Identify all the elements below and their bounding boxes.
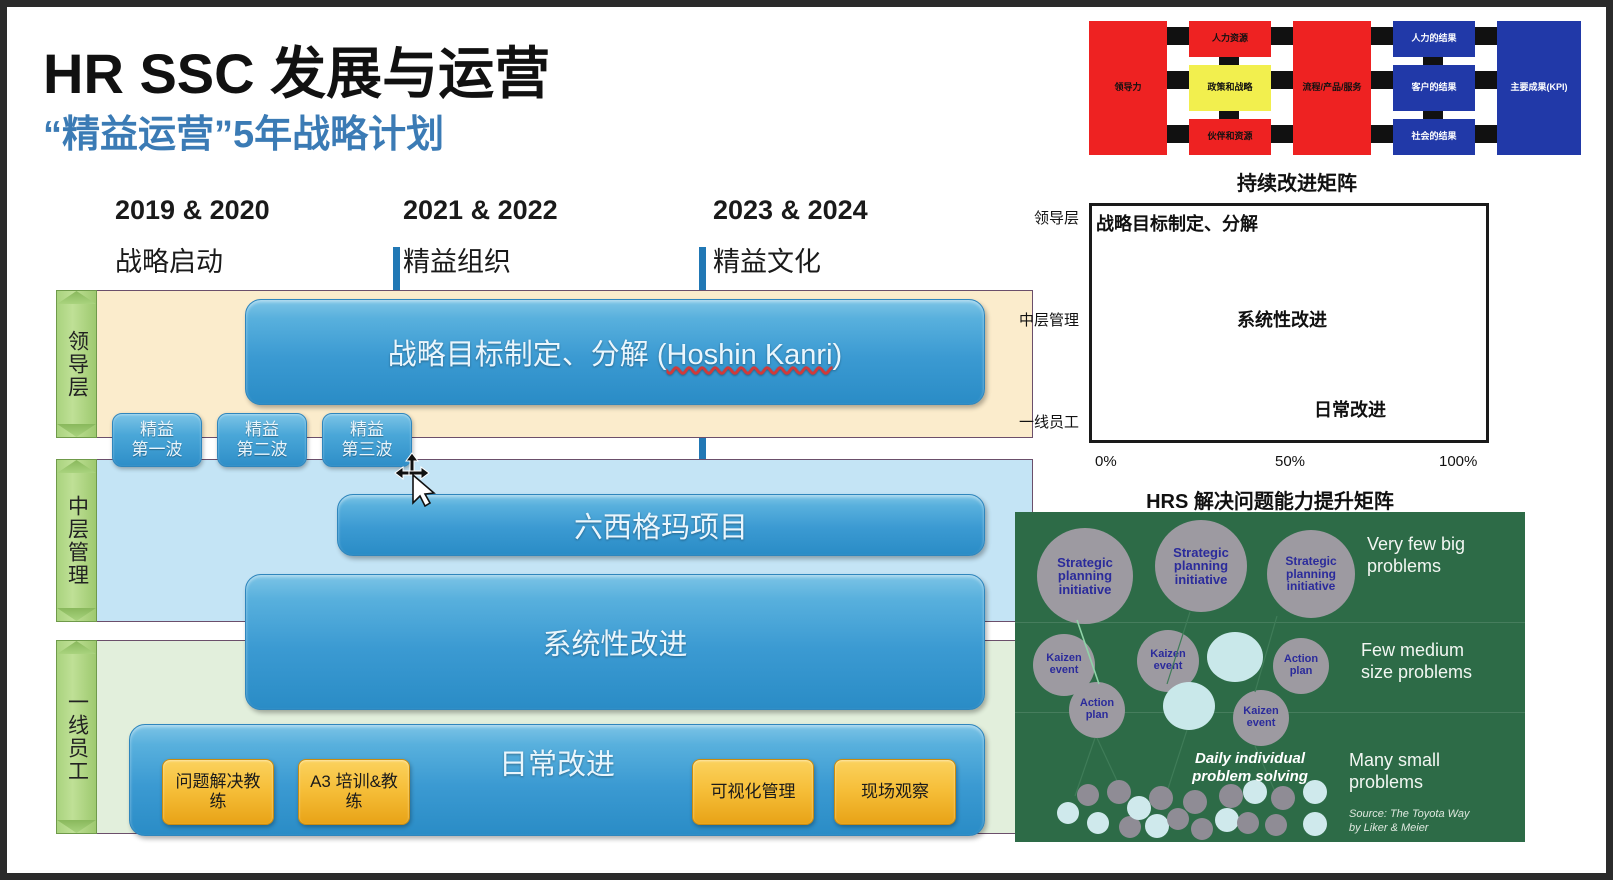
efqm-customer-results: 客户的结果 xyxy=(1393,65,1475,111)
efqm-processes: 流程/产品/服务 xyxy=(1293,21,1371,155)
continuous-improvement-matrix: 战略目标制定、分解 系统性改进 日常改进 xyxy=(1089,203,1489,443)
bar-daily-improvement-label: 日常改进 xyxy=(499,741,615,783)
timeline-years-1: 2019 & 2020 xyxy=(115,195,270,226)
toyota-matrix-title: HRS 解决问题能力提升矩阵 xyxy=(1055,485,1485,514)
dot-small-13 xyxy=(1219,784,1243,808)
dot-small-3 xyxy=(1087,812,1109,834)
dot-small-8 xyxy=(1145,814,1169,838)
dot-small-17 xyxy=(1265,814,1287,836)
toyota-row-label-big: Very few big problems xyxy=(1367,534,1465,577)
efqm-connector-1 xyxy=(1167,71,1189,89)
dot-small-11 xyxy=(1191,818,1213,840)
tool-box-label-4: 现场观察 xyxy=(861,782,929,802)
toyota-problem-matrix: Strategic planning initiative Strategic … xyxy=(1015,512,1525,842)
dot-small-15 xyxy=(1237,812,1259,834)
wave-box-3-line2: 第三波 xyxy=(342,440,393,460)
bar-systematic-improvement-label: 系统性改进 xyxy=(542,621,687,663)
hoshin-suffix: ) xyxy=(833,339,843,371)
efqm-partnership-resources-label: 伙伴和资源 xyxy=(1207,132,1252,141)
wave-box-2-line1: 精益 xyxy=(245,420,279,440)
timeline-phase-1: 战略启动 xyxy=(115,240,270,279)
efqm-partnership-resources: 伙伴和资源 xyxy=(1189,119,1271,155)
efqm-connector-7 xyxy=(1271,71,1293,89)
hoshin-prefix: 战略目标制定、分解 ( xyxy=(388,339,667,371)
wave-box-1[interactable]: 精益 第一波 xyxy=(112,413,202,467)
timeline-column-3: 2023 & 2024 精益文化 xyxy=(713,195,868,279)
timeline-phase-3: 精益文化 xyxy=(713,240,868,279)
toyota-row-label-medium-l1: Few medium xyxy=(1361,640,1472,662)
dot-small-19 xyxy=(1303,812,1327,836)
efqm-processes-label: 流程/产品/服务 xyxy=(1302,83,1361,92)
tool-box-label-3: 可视化管理 xyxy=(711,782,796,802)
efqm-key-results-label: 主要成果(KPI) xyxy=(1511,83,1568,92)
timeline-phase-2: 精益组织 xyxy=(403,240,558,279)
tool-box-label-1: 问题解决教练 xyxy=(169,772,267,813)
efqm-customer-results-label: 客户的结果 xyxy=(1411,83,1456,92)
dot-small-9 xyxy=(1167,808,1189,830)
timeline-years-2: 2021 & 2022 xyxy=(403,195,558,226)
layer-banner-label-frontline: 一线员工 xyxy=(62,691,92,783)
bar-hoshin-kanri[interactable]: 战略目标制定、分解 (Hoshin Kanri) xyxy=(245,299,985,405)
toyota-source: Source: The Toyota Way by Liker & Meier xyxy=(1349,808,1469,836)
efqm-connector-6 xyxy=(1271,27,1293,45)
dot-small-16 xyxy=(1271,786,1295,810)
cimx-xtick-0: 0% xyxy=(1095,453,1117,470)
layer-banner-middle: 中层管理 xyxy=(56,459,97,622)
efqm-policy-strategy-label: 政策和战略 xyxy=(1207,83,1252,92)
toyota-row-label-small-l1: Many small xyxy=(1349,750,1440,772)
toyota-row-label-big-l1: Very few big xyxy=(1367,534,1465,556)
efqm-diagram: 领导力 人力资源 政策和战略 伙伴和资源 流程/产品/服务 人力的结果 客户的 xyxy=(1085,13,1585,161)
page-title: HR SSC 发展与运营 xyxy=(43,29,550,110)
continuous-improvement-matrix-title: 持续改进矩阵 xyxy=(1167,167,1427,196)
dot-small-4 xyxy=(1107,780,1131,804)
cimx-label-systematic: 系统性改进 xyxy=(1237,306,1327,332)
efqm-connector-9 xyxy=(1371,27,1393,45)
bar-six-sigma[interactable]: 六西格玛项目 xyxy=(337,494,985,556)
hoshin-spell-underlined: Hoshin Kanri xyxy=(667,339,833,371)
efqm-connector-16 xyxy=(1475,125,1497,143)
efqm-people-results-label: 人力的结果 xyxy=(1411,34,1456,43)
efqm-connector-14 xyxy=(1475,27,1497,45)
timeline-column-2: 2021 & 2022 精益组织 xyxy=(403,195,558,279)
timeline-column-1: 2019 & 2020 战略启动 xyxy=(115,195,270,279)
cimx-label-daily: 日常改进 xyxy=(1314,396,1386,422)
slide-canvas: HR SSC 发展与运营 “精益运营”5年战略计划 2019 & 2020 战略… xyxy=(0,0,1613,880)
efqm-society-results-label: 社会的结果 xyxy=(1411,132,1456,141)
tool-box-gemba-observation[interactable]: 现场观察 xyxy=(834,759,956,825)
page-subtitle: “精益运营”5年战略计划 xyxy=(43,103,444,158)
dot-small-1 xyxy=(1057,802,1079,824)
tool-box-label-2: A3 培训&教练 xyxy=(305,772,403,813)
layer-banner-frontline: 一线员工 xyxy=(56,640,97,834)
toyota-row-label-medium-l2: size problems xyxy=(1361,662,1472,684)
bar-six-sigma-label: 六西格玛项目 xyxy=(574,504,748,546)
cimx-axis-label-frontline: 一线员工 xyxy=(1007,411,1079,432)
toyota-row-label-medium: Few medium size problems xyxy=(1361,640,1472,683)
toyota-daily-caption-l1: Daily individual xyxy=(1165,750,1335,768)
efqm-connector-8 xyxy=(1271,125,1293,143)
efqm-policy-strategy: 政策和战略 xyxy=(1189,65,1271,111)
cimx-xtick-50: 50% xyxy=(1275,453,1305,470)
cimx-axis-label-leadership: 领导层 xyxy=(1007,207,1079,228)
timeline-years-3: 2023 & 2024 xyxy=(713,195,868,226)
toyota-row-label-big-l2: problems xyxy=(1367,556,1465,578)
bar-hoshin-kanri-label: 战略目标制定、分解 (Hoshin Kanri) xyxy=(388,331,842,373)
efqm-people-label: 人力资源 xyxy=(1212,34,1248,43)
efqm-connector-2 xyxy=(1167,125,1189,143)
efqm-key-results: 主要成果(KPI) xyxy=(1497,21,1581,155)
cimx-axis-label-middle: 中层管理 xyxy=(1007,309,1079,330)
cimx-xtick-100: 100% xyxy=(1439,453,1477,470)
cimx-label-strategic: 战略目标制定、分解 xyxy=(1096,210,1258,236)
efqm-connector-3 xyxy=(1167,27,1189,45)
toyota-source-l2: by Liker & Meier xyxy=(1349,822,1469,836)
dot-small-6 xyxy=(1127,796,1151,820)
wave-box-2[interactable]: 精益 第二波 xyxy=(217,413,307,467)
tool-box-visual-management[interactable]: 可视化管理 xyxy=(692,759,814,825)
efqm-society-results: 社会的结果 xyxy=(1393,119,1475,155)
toyota-daily-caption: Daily individual problem solving xyxy=(1165,750,1335,786)
toyota-daily-caption-l2: problem solving xyxy=(1165,768,1335,786)
dot-small-10 xyxy=(1183,790,1207,814)
wave-box-2-line2: 第二波 xyxy=(237,440,288,460)
efqm-connector-15 xyxy=(1475,71,1497,89)
tool-box-problem-solving-coach[interactable]: 问题解决教练 xyxy=(162,759,274,825)
dot-small-2 xyxy=(1077,784,1099,806)
toyota-row-label-small-l2: problems xyxy=(1349,772,1440,794)
efqm-leadership-label: 领导力 xyxy=(1114,83,1141,92)
dot-small-7 xyxy=(1149,786,1173,810)
toyota-source-l1: Source: The Toyota Way xyxy=(1349,808,1469,822)
dot-small-12 xyxy=(1215,808,1239,832)
bar-systematic-improvement[interactable]: 系统性改进 xyxy=(245,574,985,710)
wave-box-3-line1: 精益 xyxy=(350,420,384,440)
efqm-connector-11 xyxy=(1371,125,1393,143)
toyota-row-label-small: Many small problems xyxy=(1349,750,1440,793)
efqm-connector-10 xyxy=(1371,71,1393,89)
efqm-people: 人力资源 xyxy=(1189,21,1271,57)
layer-banner-label-middle: 中层管理 xyxy=(62,495,92,587)
wave-box-1-line1: 精益 xyxy=(140,420,174,440)
wave-box-3[interactable]: 精益 第三波 xyxy=(322,413,412,467)
layer-banner-label-leadership: 领导层 xyxy=(62,330,92,399)
layer-banner-leadership: 领导层 xyxy=(56,290,97,438)
efqm-people-results: 人力的结果 xyxy=(1393,21,1475,57)
wave-box-1-line2: 第一波 xyxy=(132,440,183,460)
efqm-leadership: 领导力 xyxy=(1089,21,1167,155)
tool-box-a3-training[interactable]: A3 培训&教练 xyxy=(298,759,410,825)
